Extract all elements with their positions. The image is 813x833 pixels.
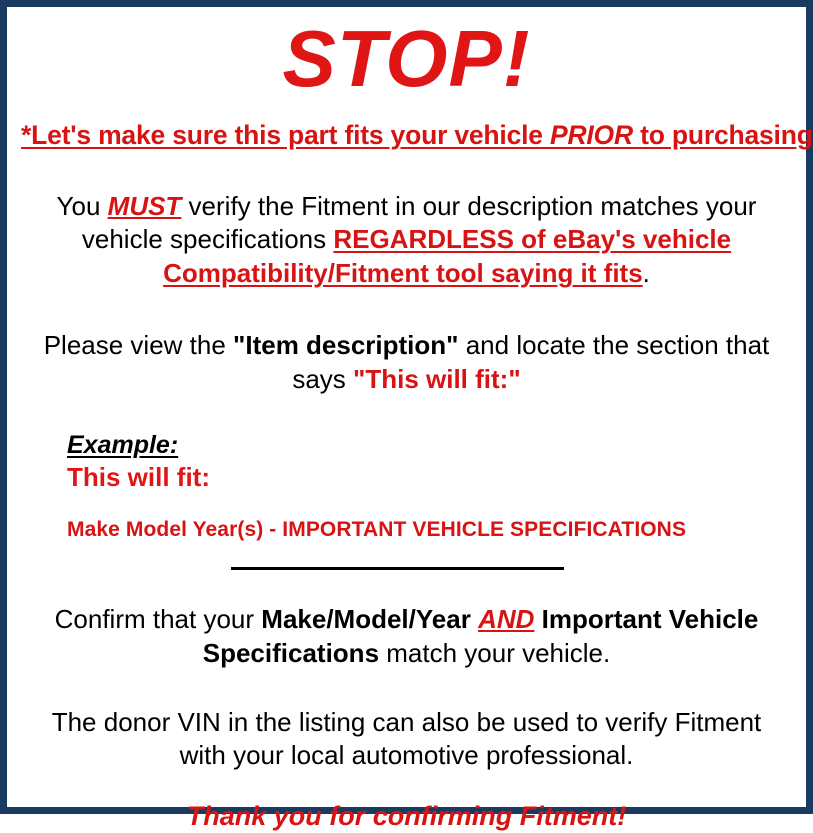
confirm-paragraph-seg3: match your vehicle. — [379, 638, 610, 668]
example-this-will-fit-heading: This will fit: — [67, 462, 792, 493]
confirm-paragraph: Confirm that your Make/Model/Year AND Im… — [21, 603, 792, 671]
must-verify-paragraph: You MUST verify the Fitment in our descr… — [21, 190, 792, 291]
donor-vin-paragraph: The donor VIN in the listing can also be… — [21, 706, 792, 774]
thank-you-line: Thank you for confirming Fitment! — [21, 800, 792, 832]
section-divider — [21, 567, 792, 570]
fitment-notice-card: STOP! *Let's make sure this part fits yo… — [0, 0, 813, 814]
confirm-paragraph-seg1: Confirm that your — [55, 604, 262, 634]
stop-heading: STOP! — [21, 13, 792, 104]
view-description-paragraph: Please view the "Item description" and l… — [21, 329, 792, 397]
example-block: Example: This will fit: Make Model Year(… — [21, 431, 792, 542]
notice-content: STOP! *Let's make sure this part fits yo… — [7, 7, 806, 807]
item-description-label: "Item description" — [233, 330, 458, 360]
tagline-text-before: *Let's make sure this part fits your veh… — [21, 120, 550, 150]
example-spec-line: Make Model Year(s) - IMPORTANT VEHICLE S… — [67, 517, 792, 542]
tagline-text-after: to purchasing* — [633, 120, 813, 150]
must-paragraph-seg1: You — [57, 191, 108, 221]
fitment-tagline: *Let's make sure this part fits your veh… — [21, 120, 792, 150]
this-will-fit-quote: "This will fit:" — [353, 364, 521, 394]
example-label: Example: — [67, 431, 792, 461]
emphasis-and: AND — [478, 604, 534, 634]
divider-rule — [231, 567, 564, 570]
tagline-emphasis-prior: PRIOR — [550, 120, 633, 150]
make-model-year-label: Make/Model/Year — [261, 604, 471, 634]
must-paragraph-seg3: . — [643, 258, 650, 288]
emphasis-must: MUST — [108, 191, 182, 221]
view-paragraph-seg1: Please view the — [44, 330, 233, 360]
